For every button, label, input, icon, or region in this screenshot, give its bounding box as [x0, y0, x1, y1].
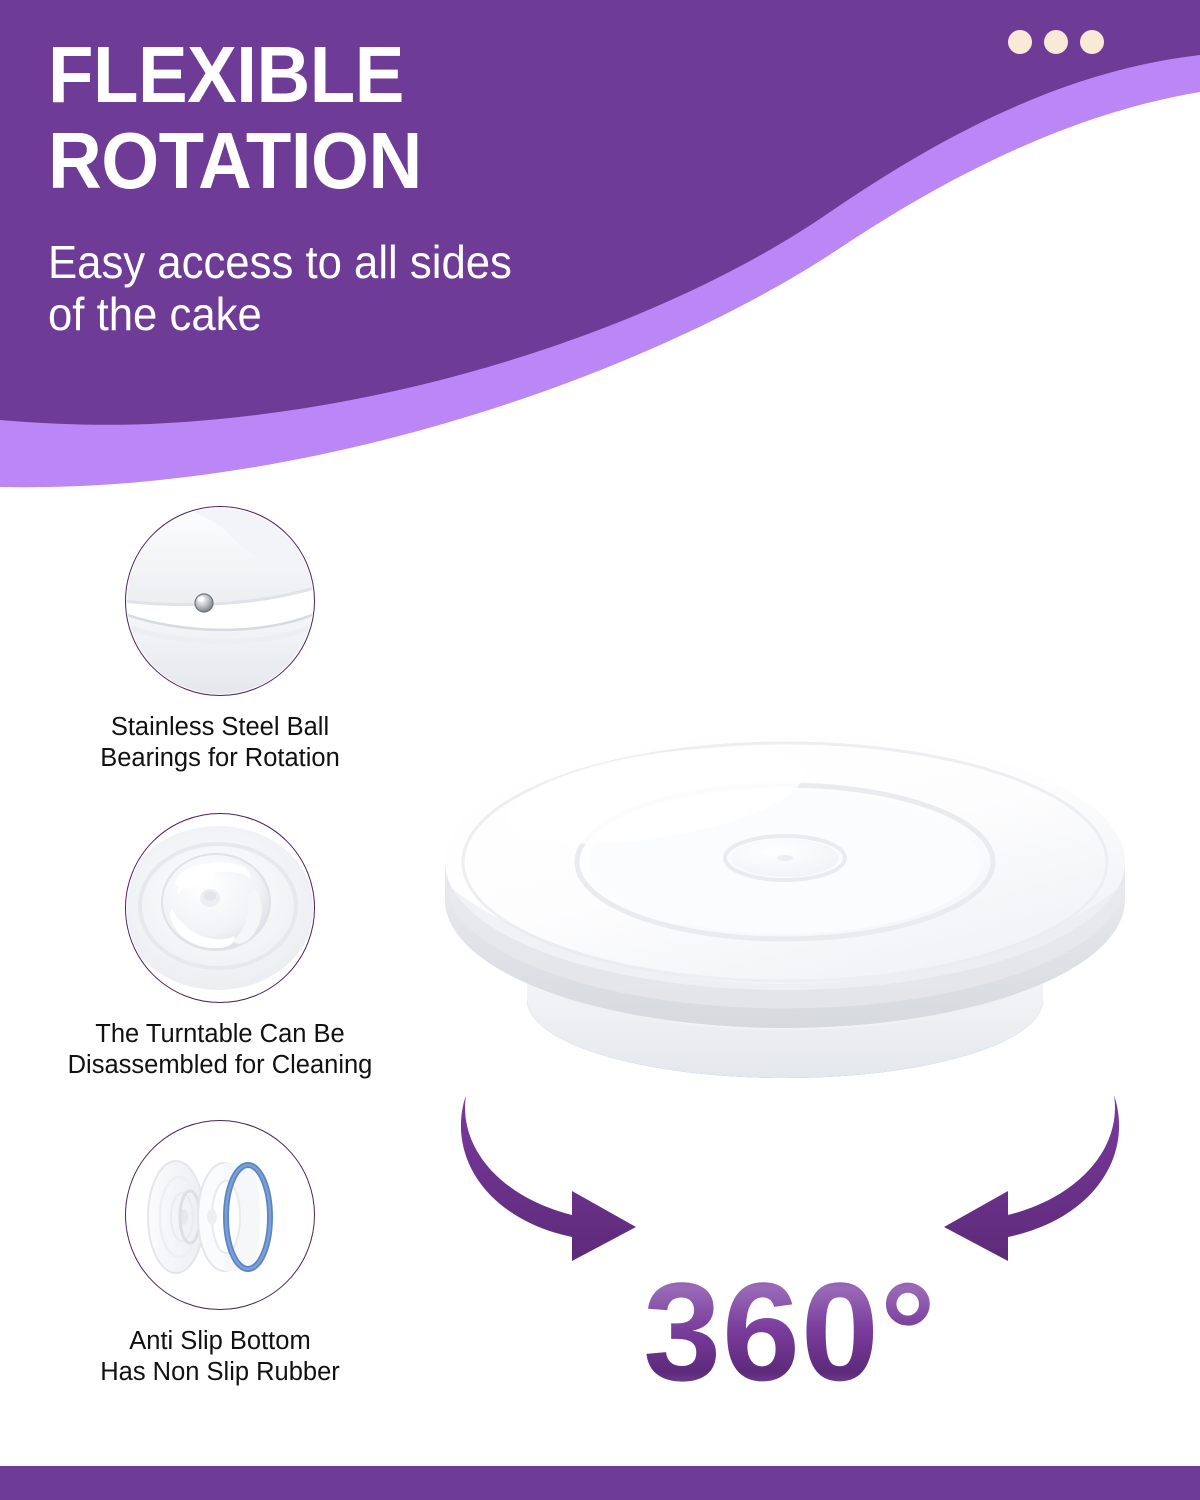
feature-item: Stainless Steel Ball Bearings for Rotati… — [0, 506, 440, 773]
feature-list: Stainless Steel Ball Bearings for Rotati… — [0, 506, 440, 1428]
feature-item: Anti Slip Bottom Has Non Slip Rubber — [0, 1120, 440, 1387]
cake-turntable-product-image — [405, 600, 1165, 1160]
header-text-block: FLEXIBLE ROTATION Easy access to all sid… — [48, 38, 748, 340]
subtitle-line-1: Easy access to all sides — [48, 237, 713, 289]
rotation-arrows — [440, 1085, 1140, 1265]
headline-line-2: ROTATION — [48, 124, 699, 198]
anti-slip-rubber-closeup-icon — [125, 1120, 315, 1310]
feature-caption-line-2: Has Non Slip Rubber — [0, 1357, 440, 1388]
ball-bearing-closeup-icon — [125, 506, 315, 696]
svg-text:360°: 360° — [643, 1260, 937, 1410]
curved-arrow-right-icon — [461, 1095, 636, 1261]
subtitle-block: Easy access to all sides of the cake — [48, 237, 713, 340]
turntable-top-plate — [445, 731, 1125, 1028]
feature-caption-line-1: The Turntable Can Be — [0, 1019, 440, 1050]
feature-caption-line-2: Bearings for Rotation — [0, 743, 440, 774]
degree-label-wrapper: 360° — [440, 1260, 1140, 1410]
dot-1 — [1008, 30, 1032, 54]
feature-caption-line-2: Disassembled for Cleaning — [0, 1050, 440, 1081]
subtitle-line-2: of the cake — [48, 289, 713, 341]
degree-label: 360° — [580, 1260, 1000, 1410]
turntable-base-closeup-icon — [125, 813, 315, 1003]
feature-caption: Anti Slip Bottom Has Non Slip Rubber — [0, 1326, 440, 1387]
dot-3 — [1080, 30, 1104, 54]
footer-bar — [0, 1466, 1200, 1500]
feature-caption: Stainless Steel Ball Bearings for Rotati… — [0, 712, 440, 773]
rotation-indicator: 360° — [440, 1085, 1140, 1445]
feature-item: The Turntable Can Be Disassembled for Cl… — [0, 813, 440, 1080]
infographic-page: FLEXIBLE ROTATION Easy access to all sid… — [0, 0, 1200, 1500]
feature-caption-line-1: Anti Slip Bottom — [0, 1326, 440, 1357]
decorative-dots — [1008, 30, 1104, 54]
feature-caption: The Turntable Can Be Disassembled for Cl… — [0, 1019, 440, 1080]
dot-2 — [1044, 30, 1068, 54]
curved-arrow-left-icon — [944, 1095, 1119, 1261]
headline-line-1: FLEXIBLE — [48, 38, 699, 112]
feature-caption-line-1: Stainless Steel Ball — [0, 712, 440, 743]
